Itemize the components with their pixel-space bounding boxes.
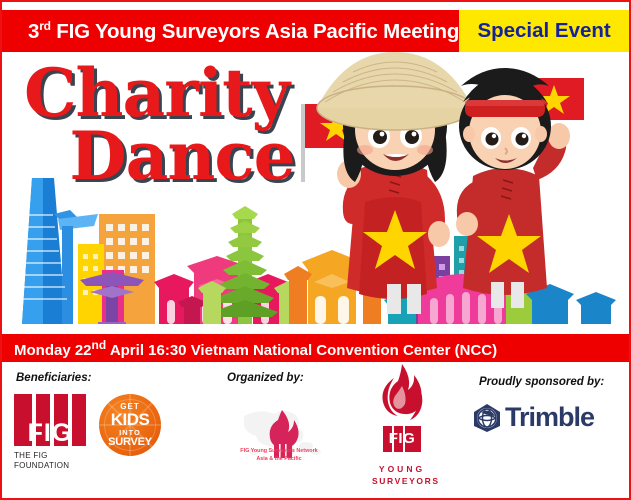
asia-pacific-map-graphic bbox=[220, 390, 338, 478]
header-title-band: 3rd FIG Young Surveyors Asia Pacific Mee… bbox=[2, 10, 459, 52]
fig-foundation-caption-line1: THE FIG bbox=[14, 451, 92, 461]
event-day-suffix: nd bbox=[92, 338, 107, 352]
poster-footer: Beneficiaries: Organized by: Proudly spo… bbox=[2, 362, 629, 498]
organizer-text-line2: Asia & the Pacific bbox=[220, 456, 338, 464]
header-title-text: FIG Young Surveyors Asia Pacific Meeting bbox=[51, 19, 459, 42]
poster-title-line2: Dance bbox=[24, 125, 314, 188]
fig-foundation-mark: FIG bbox=[14, 394, 86, 446]
event-poster: 3rd FIG Young Surveyors Asia Pacific Mee… bbox=[0, 0, 631, 500]
poster-artwork: Charity Dance bbox=[2, 52, 629, 334]
gkis-line-survey: SURVEY bbox=[99, 437, 161, 448]
trimble-logo: Trimble bbox=[472, 402, 594, 433]
event-day: Monday 22 bbox=[14, 342, 92, 359]
boy-character bbox=[456, 68, 584, 308]
organizer-logo: FIG Young Surveyors Network Asia & the P… bbox=[220, 390, 338, 478]
event-month: April bbox=[106, 342, 148, 359]
beneficiaries-label: Beneficiaries: bbox=[16, 372, 91, 384]
poster-title: Charity Dance bbox=[24, 62, 314, 189]
fig-foundation-caption-line2: FOUNDATION bbox=[14, 461, 92, 471]
organizer-text-line1: FIG Young Surveyors Network bbox=[220, 448, 338, 456]
sponsored-by-label: Proudly sponsored by: bbox=[479, 376, 604, 388]
young-surveyors-line1: YOUNG bbox=[372, 464, 432, 474]
vietnamese-children-illustration bbox=[295, 52, 625, 334]
poster-title-line1: Charity bbox=[24, 62, 314, 125]
young-surveyors-line2: SURVEYORS bbox=[372, 476, 432, 486]
event-time: 16:30 bbox=[148, 342, 191, 359]
header-ordinal-number: 3 bbox=[28, 19, 39, 42]
trimble-globe-icon bbox=[472, 403, 502, 433]
event-details-bar: Monday 22nd April 16:30 Vietnam National… bbox=[2, 334, 629, 362]
girl-character bbox=[301, 52, 473, 314]
header-title: 3rd FIG Young Surveyors Asia Pacific Mee… bbox=[28, 19, 459, 44]
fig-young-surveyors-logo: FIG YOUNG SURVEYORS bbox=[372, 364, 432, 486]
organizer-logo-text: FIG Young Surveyors Network Asia & the P… bbox=[220, 448, 338, 464]
trimble-wordmark: Trimble bbox=[505, 402, 594, 433]
event-venue-center: Center bbox=[403, 342, 451, 359]
get-kids-into-survey-logo: GET KIDS INTO SURVEY bbox=[99, 394, 161, 456]
poster-header: 3rd FIG Young Surveyors Asia Pacific Mee… bbox=[2, 10, 629, 52]
conical-hat bbox=[317, 52, 473, 130]
flame-icon bbox=[372, 364, 432, 430]
fig-foundation-wordmark: FIG bbox=[14, 420, 86, 446]
event-venue-part2: (NCC) bbox=[450, 342, 497, 359]
fig-foundation-caption: THE FIG FOUNDATION bbox=[14, 451, 92, 471]
header-badge-band: Special Event bbox=[459, 10, 629, 52]
fig-young-surveyors-wordmark: FIG bbox=[383, 426, 421, 452]
fig-young-surveyors-caption: YOUNG SURVEYORS bbox=[372, 464, 432, 486]
header-ordinal-suffix: rd bbox=[39, 19, 51, 33]
organized-by-label: Organized by: bbox=[227, 372, 304, 384]
event-venue-part1: Vietnam National Convention bbox=[191, 342, 403, 359]
gkis-line-kids: KIDS bbox=[99, 411, 161, 428]
fig-young-surveyors-mark: FIG bbox=[383, 426, 421, 452]
event-details-text: Monday 22nd April 16:30 Vietnam National… bbox=[14, 338, 497, 359]
special-event-badge: Special Event bbox=[477, 19, 610, 43]
fig-foundation-logo: FIG THE FIG FOUNDATION bbox=[14, 394, 92, 480]
